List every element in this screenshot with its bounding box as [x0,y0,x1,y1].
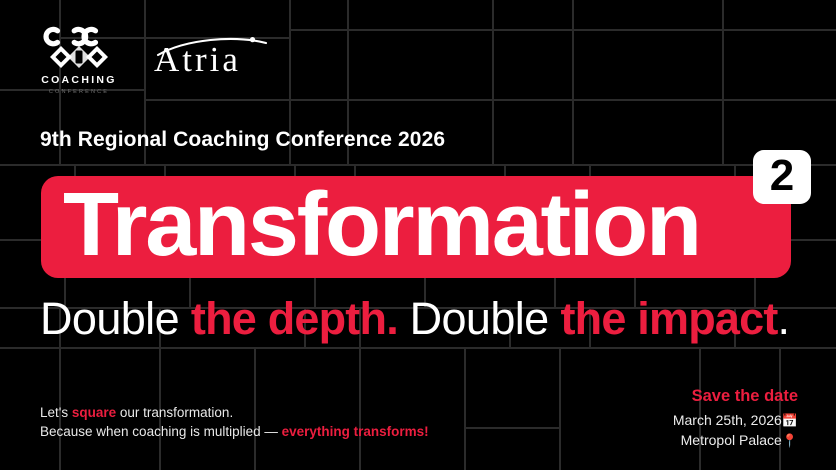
atria-logo: Atria [154,38,280,78]
banner-word: Transformation [63,180,700,270]
background-brick [573,30,723,100]
subheadline-part2-light: Double [410,293,561,344]
calendar-icon: 📅 [782,413,798,428]
coaching-logo-name: COACHING [41,75,117,86]
coaching-logo-subtitle: CONFERENCE [49,90,109,96]
save-the-date-venue-line: Metropol Palace📍 [673,430,798,451]
background-brick [723,30,836,100]
save-the-date-date-line: March 25th, 2026📅 [673,410,798,431]
save-the-date-venue: Metropol Palace [681,432,782,448]
background-brick [348,30,493,100]
subheadline-part1-bold: the depth [191,293,386,344]
background-brick [465,428,560,470]
background-brick [573,100,723,165]
background-brick [493,30,573,100]
subheadline-period1: . [386,293,409,344]
blurb-line2-highlight: everything transforms! [282,424,429,439]
blurb-line1-post: our transformation. [116,405,233,420]
coaching-conference-logo: COACHING CONFERENCE [38,26,120,95]
exponent-badge: 2 [753,150,811,204]
subheadline: Double the depth. Double the impact. [40,296,790,341]
blurb-line1-highlight: square [72,405,116,420]
atria-wordmark: Atria [154,42,241,77]
background-brick [290,0,348,30]
background-brick [493,0,573,30]
subheadline-part1-light: Double [40,293,191,344]
page-kicker: 9th Regional Coaching Conference 2026 [40,129,445,150]
blurb-line1-pre: Let's [40,405,72,420]
subheadline-period2: . [778,293,791,344]
save-the-date-title: Save the date [673,386,798,407]
blurb-line-1: Let's square our transformation. [40,403,429,422]
pushpin-icon: 📍 [782,433,798,448]
save-the-date-date: March 25th, 2026 [673,412,782,428]
blurb: Let's square our transformation. Because… [40,403,429,441]
background-brick [465,348,560,428]
conference-poster: COACHING CONFERENCE Atria 9th Regional C… [0,0,836,470]
logo-row: COACHING CONFERENCE Atria [38,26,280,95]
background-brick [493,100,573,165]
transformation-banner: Transformation [41,176,791,278]
save-the-date-block: Save the date March 25th, 2026📅 Metropol… [673,386,798,451]
blurb-line2-pre: Because when coaching is multiplied — [40,424,282,439]
three-people-coaching-mark [43,26,115,70]
background-brick [290,30,348,100]
background-brick [573,0,723,30]
exponent-value: 2 [770,154,794,198]
blurb-line-2: Because when coaching is multiplied — ev… [40,422,429,441]
subheadline-part2-bold: the impact [561,293,778,344]
background-brick [723,0,836,30]
background-brick [348,0,493,30]
